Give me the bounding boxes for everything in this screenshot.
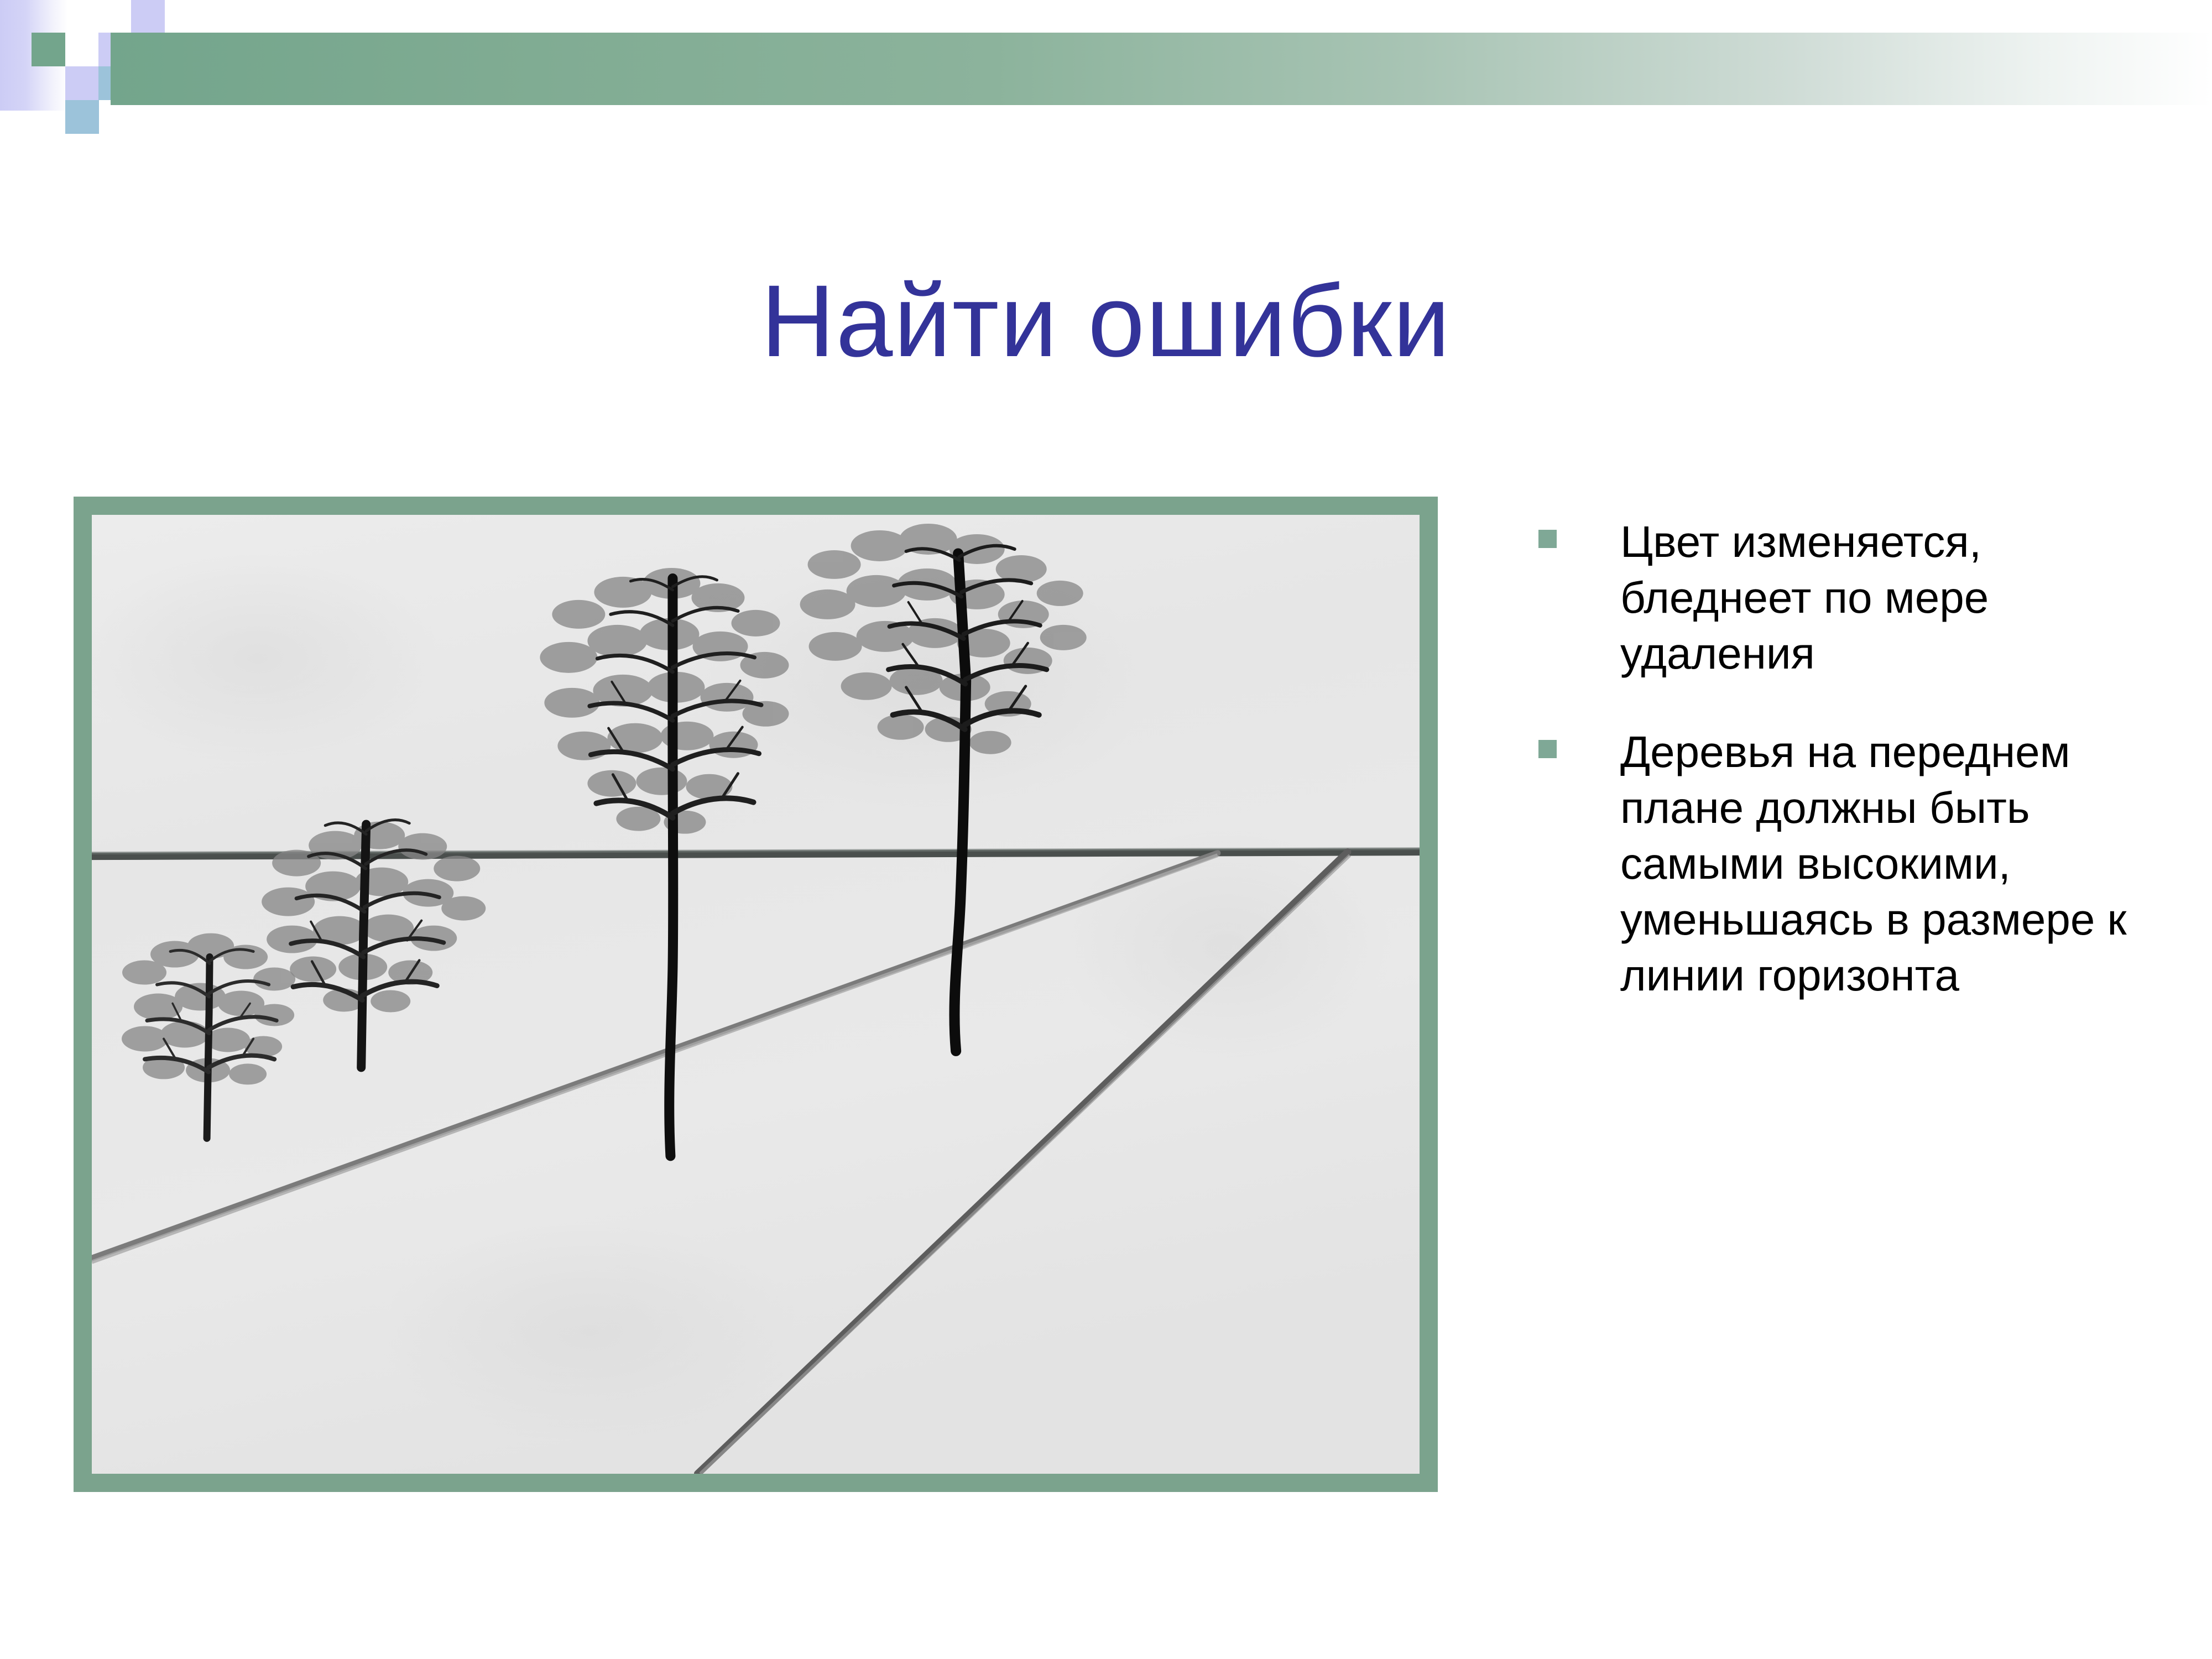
list-item[interactable]: Деревья на переднем плане должны быть са… <box>1538 724 2180 1003</box>
perspective-drawing <box>92 515 1420 1474</box>
square-bullet-icon <box>1538 530 1557 548</box>
illustration-canvas <box>92 515 1420 1474</box>
header-lavender-square-low <box>65 66 99 100</box>
bullet-list: Цвет изменяется, бледнеет по мере удален… <box>1538 514 2180 1046</box>
square-bullet-icon <box>1538 740 1557 758</box>
bullet-text: Деревья на переднем плане должны быть са… <box>1620 724 2180 1003</box>
bullet-text: Цвет изменяется, бледнеет по мере удален… <box>1620 514 2180 681</box>
header-lavender-square-top <box>131 0 165 34</box>
page-title: Найти ошибки <box>0 268 2212 375</box>
header-green-square <box>32 33 65 66</box>
header-green-bar <box>111 33 2212 105</box>
illustration-frame <box>74 497 1438 1492</box>
header-blue-square-bottom <box>65 100 99 134</box>
list-item[interactable]: Цвет изменяется, бледнеет по мере удален… <box>1538 514 2180 681</box>
header-decoration <box>0 0 2212 122</box>
